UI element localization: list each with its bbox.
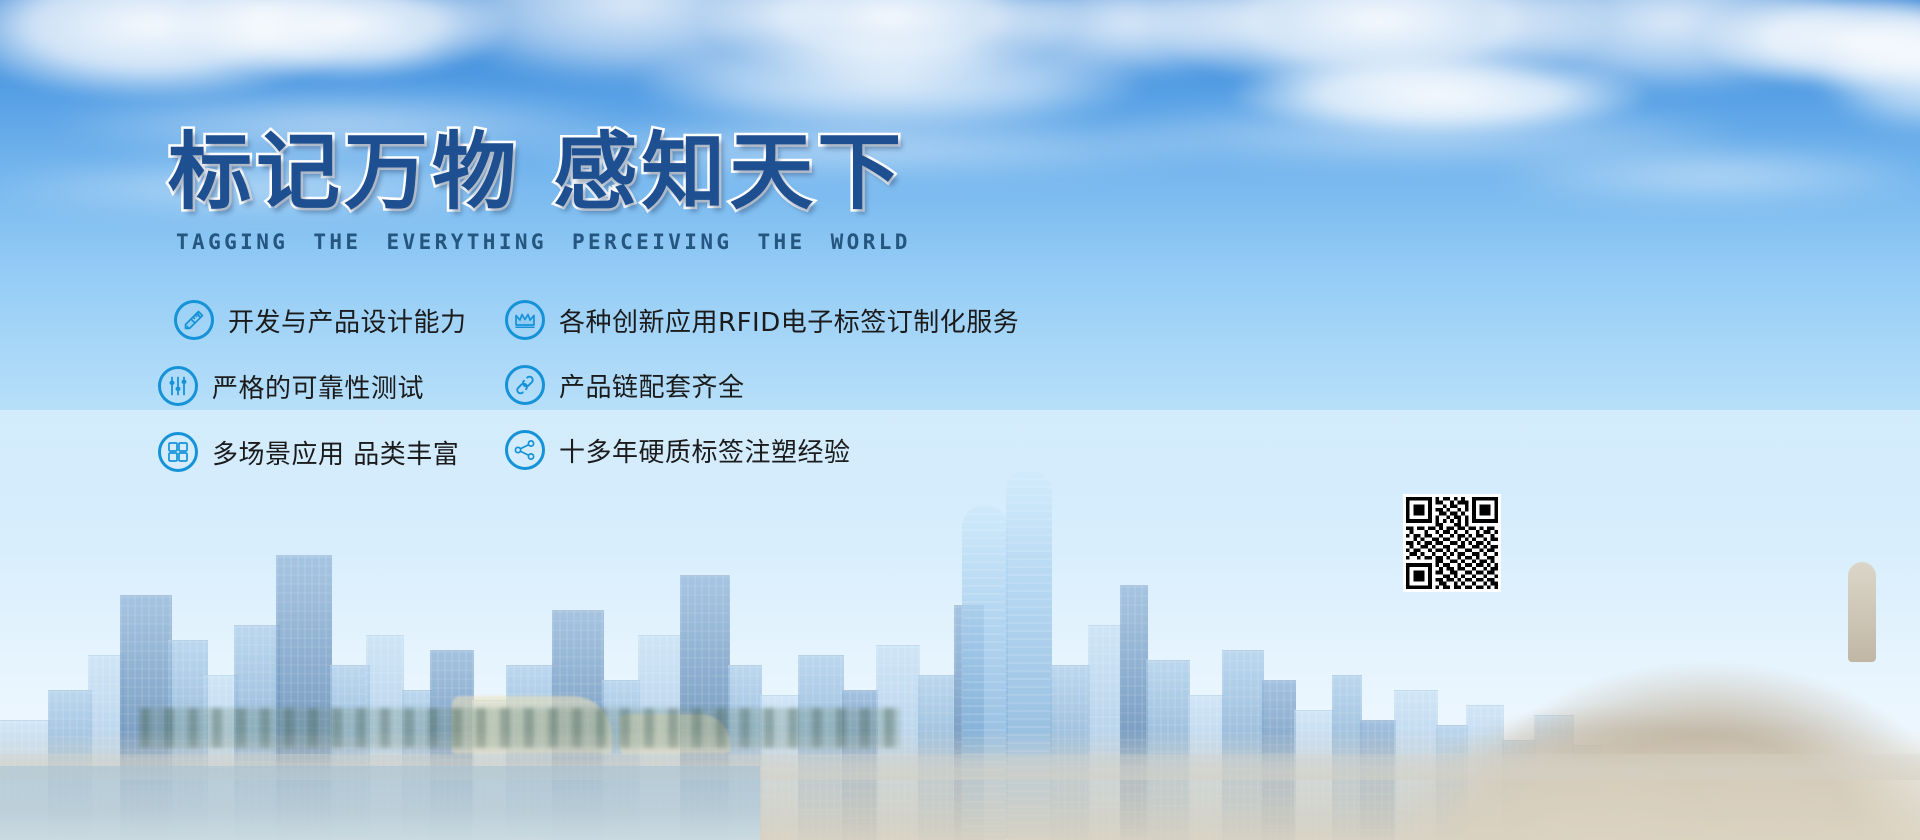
feature-item-injection-experience[interactable]: 十多年硬质标签注塑经验 [505, 418, 1019, 482]
feature-label: 多场景应用 品类丰富 [212, 434, 459, 471]
feature-column-left: 开发与产品设计能力 严格的可靠性测试 [150, 288, 467, 485]
sliders-icon [158, 366, 198, 406]
feature-item-rfid-custom-service[interactable]: 各种创新应用RFID电子标签订制化服务 [505, 288, 1019, 352]
headline-block: 标记万物 感知天下 TAGGING THE EVERYTHING PERCEIV… [168, 130, 911, 254]
feature-label: 开发与产品设计能力 [228, 302, 467, 339]
promo-banner: 标记万物 感知天下 TAGGING THE EVERYTHING PERCEIV… [0, 0, 1920, 840]
page-subtitle: TAGGING THE EVERYTHING PERCEIVING THE WO… [176, 230, 911, 254]
feature-item-applications[interactable]: 多场景应用 品类丰富 [158, 420, 467, 484]
share-network-icon [505, 430, 545, 470]
feature-item-design[interactable]: 开发与产品设计能力 [174, 288, 467, 352]
pen-ruler-icon [174, 300, 214, 340]
feature-label: 严格的可靠性测试 [212, 368, 424, 405]
feature-item-product-chain[interactable]: 产品链配套齐全 [505, 353, 1019, 417]
page-title: 标记万物 感知天下 [168, 130, 911, 214]
qr-code[interactable] [1403, 494, 1501, 592]
feature-label: 各种创新应用RFID电子标签订制化服务 [559, 302, 1019, 339]
crown-icon [505, 300, 545, 340]
qr-code-image [1406, 497, 1498, 589]
link-chain-icon [505, 365, 545, 405]
feature-label: 十多年硬质标签注塑经验 [559, 432, 851, 469]
grid-apps-icon [158, 432, 198, 472]
feature-item-reliability-test[interactable]: 严格的可靠性测试 [158, 354, 467, 418]
feature-column-right: 各种创新应用RFID电子标签订制化服务 产品链配套齐全 [505, 288, 1019, 483]
feature-label: 产品链配套齐全 [559, 367, 745, 404]
water-foreground [0, 766, 760, 840]
statue-landmark [1848, 562, 1876, 662]
